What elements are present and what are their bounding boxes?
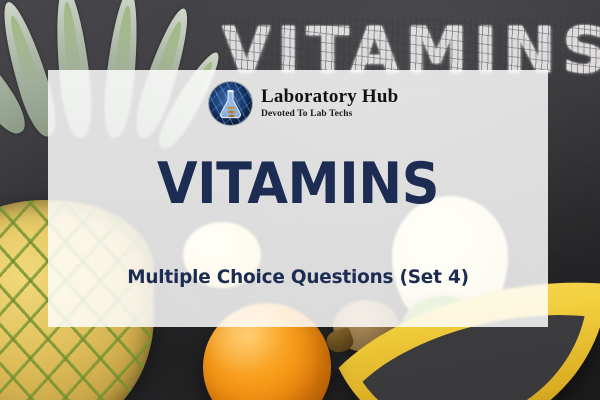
page-subtitle: Multiple Choice Questions (Set 4) [56,266,541,288]
flask-glyph [209,82,252,125]
brand-name: Laboratory Hub [261,87,398,106]
flask-dna-lightning-icon [209,82,252,125]
page-title: VITAMINS [68,156,528,213]
content-panel: Laboratory Hub Devoted To Lab Techs VITA… [48,70,548,327]
featured-image-canvas: VITAMINS [0,0,600,400]
brand-lockup: Laboratory Hub Devoted To Lab Techs [209,82,398,125]
brand-text-block: Laboratory Hub Devoted To Lab Techs [261,87,398,120]
brand-tagline: Devoted To Lab Techs [261,110,398,120]
